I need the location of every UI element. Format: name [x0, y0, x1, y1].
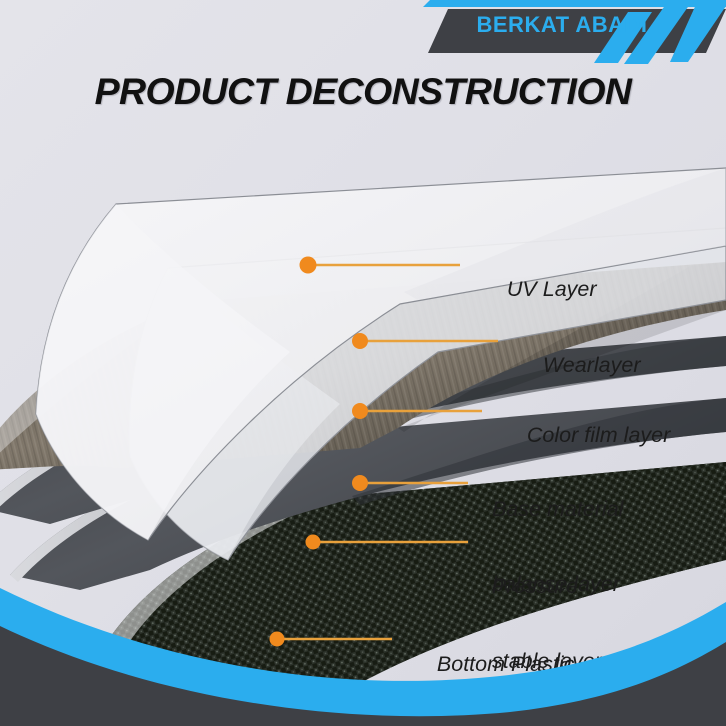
- label-wearlayer-line-1: Wearlayer: [543, 353, 641, 377]
- label-wearlayer: Wearlayer: [519, 328, 641, 403]
- bottom-wave-decoration: [0, 566, 726, 726]
- infographic-canvas: BERKAT ABADI PRODUCT DECONSTRUCTION: [0, 0, 726, 726]
- label-uv-layer: UV Layer: [483, 252, 597, 327]
- label-uv-layer-line-1: UV Layer: [507, 277, 597, 301]
- label-color-film-layer-line-1: Color film layer: [527, 423, 670, 447]
- label-base-material-line-1: Base material: [492, 497, 623, 522]
